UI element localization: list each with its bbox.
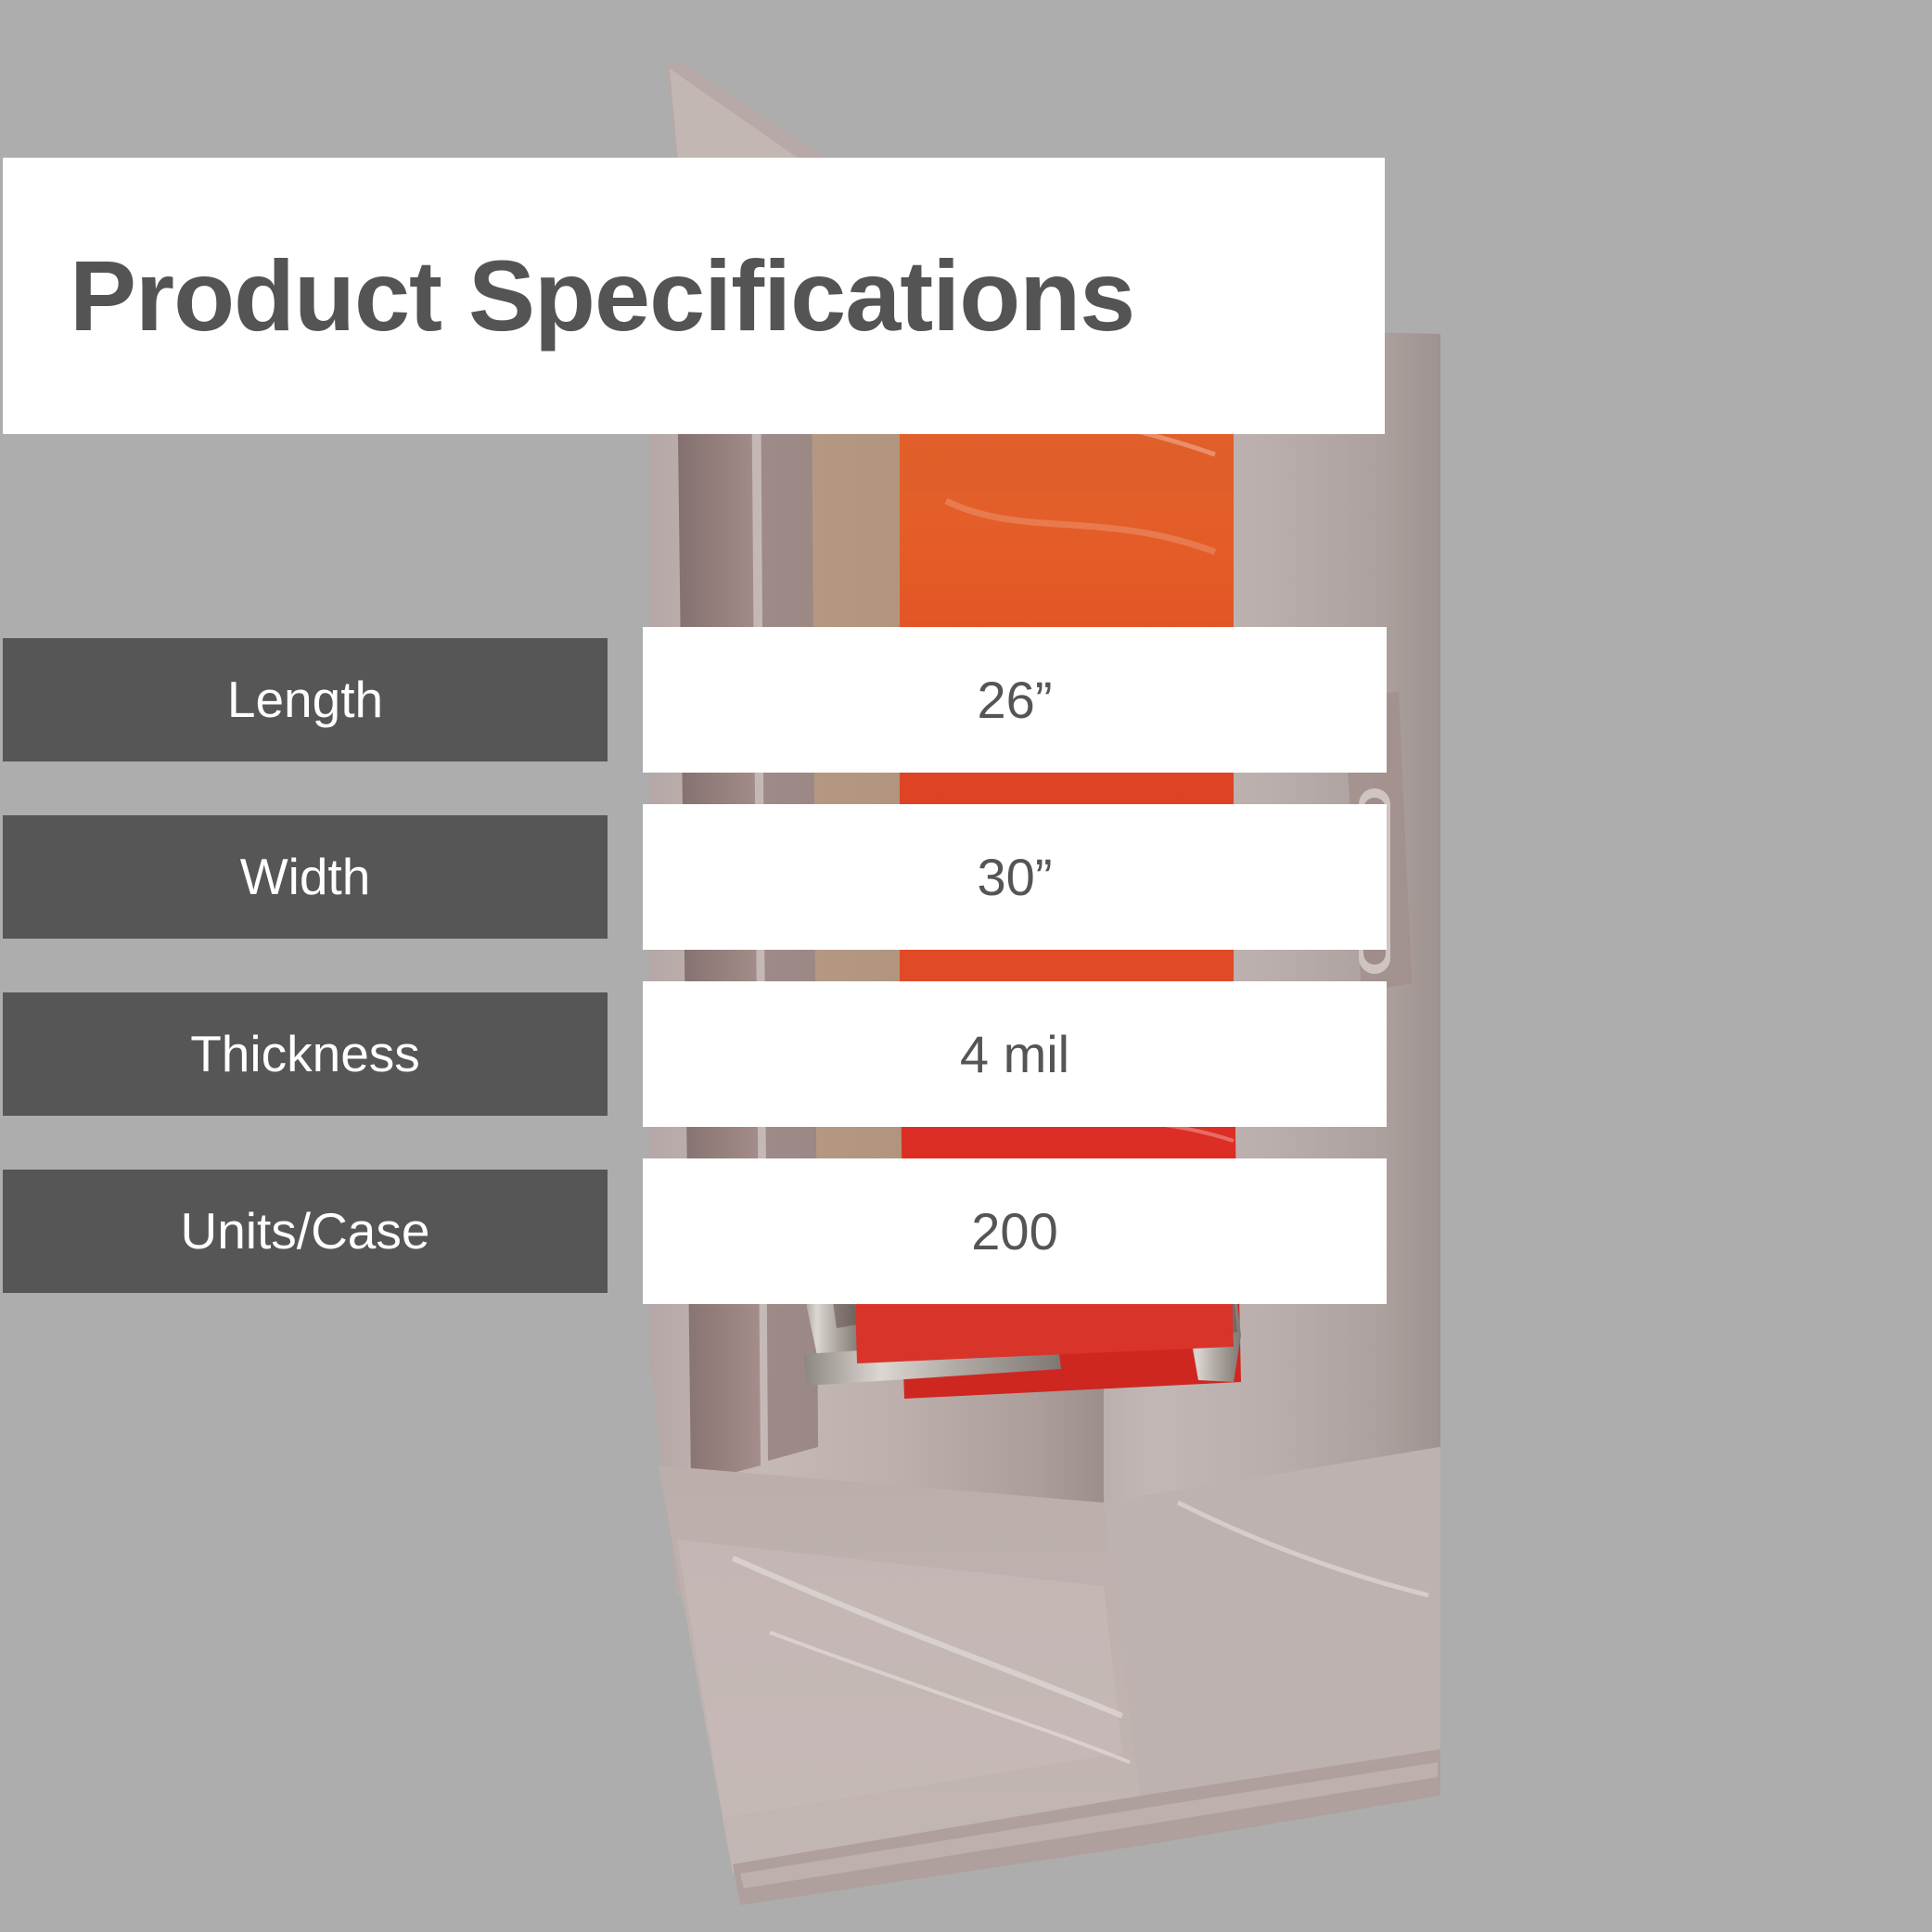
spec-value-thickness: 4 mil [960, 1029, 1069, 1081]
spec-label-cell-length: Length [3, 638, 608, 761]
spec-value-cell-length: 26” [643, 627, 1387, 773]
spec-table: Length 26” Width 30” Thickness 4 mil [0, 638, 1391, 1347]
spec-value-units-per-case: 200 [971, 1206, 1057, 1258]
table-row: Thickness 4 mil [0, 992, 1391, 1170]
spec-label-cell-thickness: Thickness [3, 992, 608, 1116]
spec-value-width: 30” [978, 851, 1053, 903]
table-row: Width 30” [0, 815, 1391, 992]
spec-value-cell-thickness: 4 mil [643, 981, 1387, 1127]
spec-sheet-canvas: Product Specifications Length 26” Width … [0, 0, 1932, 1932]
table-row: Units/Case 200 [0, 1170, 1391, 1347]
table-row: Length 26” [0, 638, 1391, 815]
title-banner: Product Specifications [3, 158, 1385, 434]
spec-label-width: Width [240, 851, 371, 902]
spec-value-cell-width: 30” [643, 804, 1387, 950]
spec-value-length: 26” [978, 674, 1053, 726]
spec-label-length: Length [227, 674, 383, 725]
spec-label-cell-width: Width [3, 815, 608, 939]
spec-label-thickness: Thickness [190, 1029, 420, 1080]
page-title: Product Specifications [70, 246, 1134, 346]
spec-value-cell-units-per-case: 200 [643, 1158, 1387, 1304]
spec-label-units-per-case: Units/Case [181, 1206, 430, 1257]
spec-label-cell-units-per-case: Units/Case [3, 1170, 608, 1293]
